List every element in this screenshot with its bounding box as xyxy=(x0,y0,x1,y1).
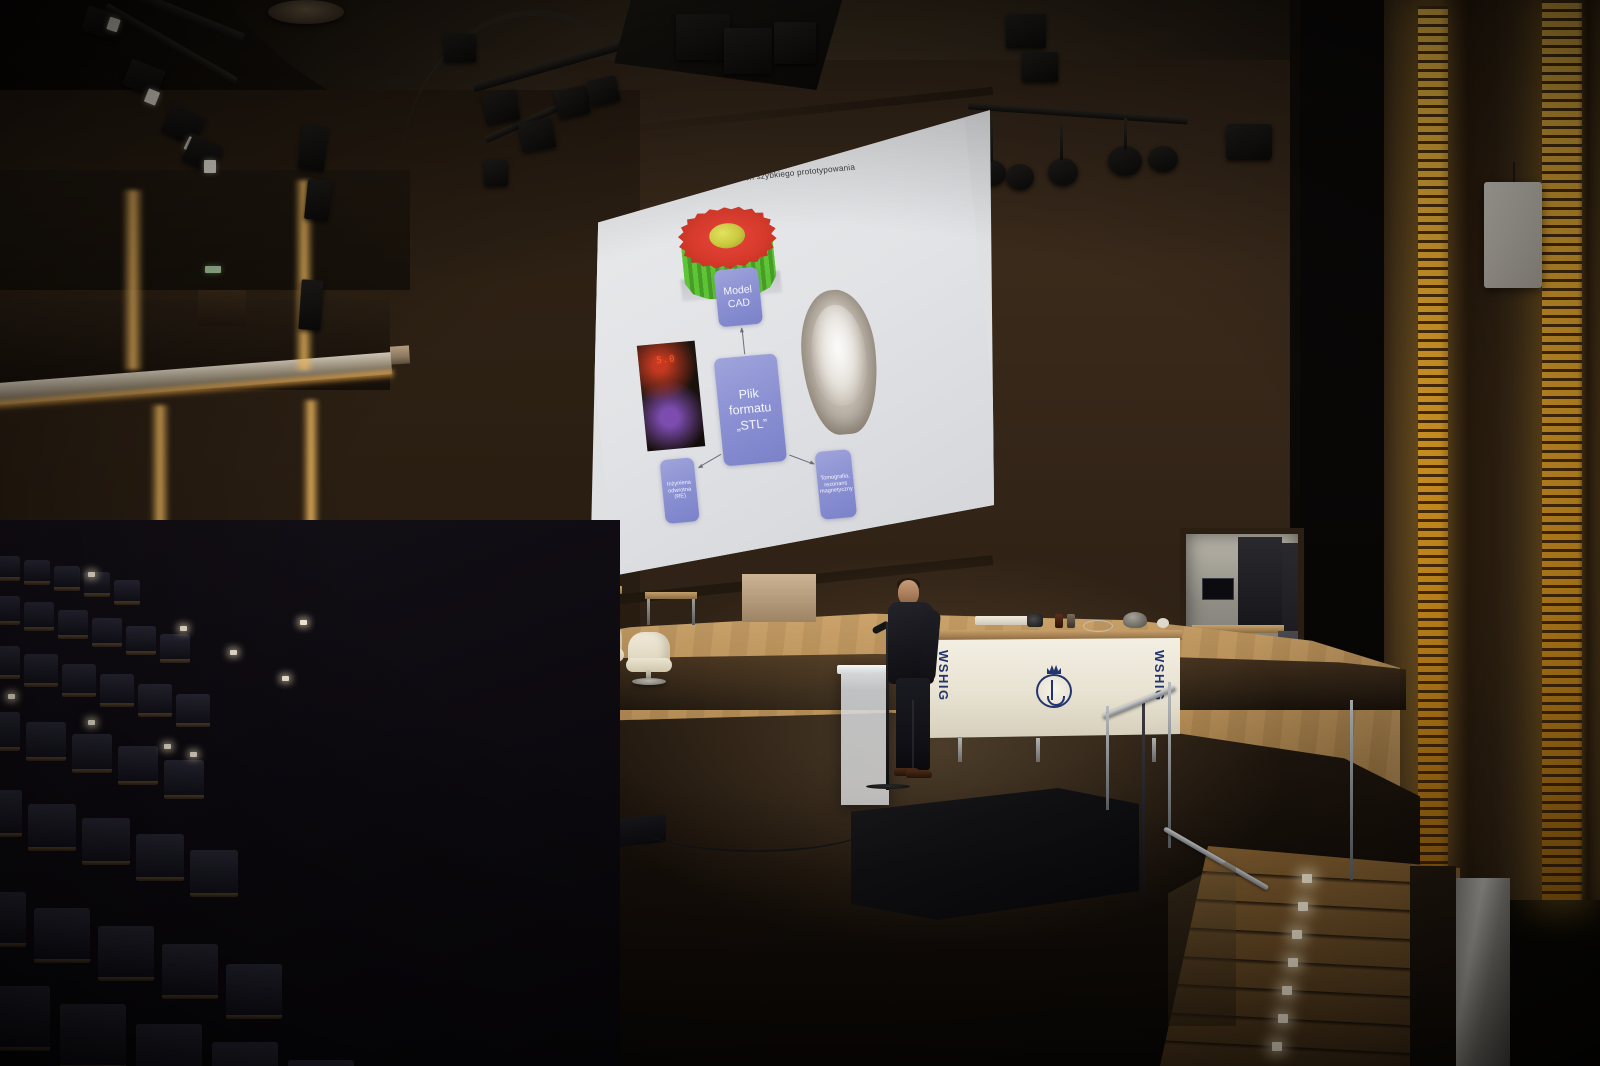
presenter xyxy=(884,580,946,792)
stage-light-10 xyxy=(298,125,328,171)
seat xyxy=(136,1024,202,1066)
auditorium-seating xyxy=(0,520,620,1066)
seat xyxy=(100,674,134,704)
seat xyxy=(24,602,54,628)
aisle-step-light xyxy=(8,694,15,699)
riser-cable-drop xyxy=(1142,700,1145,900)
seat xyxy=(226,964,282,1016)
aisle-step-light xyxy=(190,752,197,757)
presenter-shoe-right xyxy=(906,770,932,778)
stage-light-21 xyxy=(1048,158,1078,186)
bottle-2 xyxy=(1067,614,1075,628)
box-reverse-engineering: Inżynieria odwrotna (RE) xyxy=(659,457,699,524)
stage-light-13 xyxy=(484,160,508,186)
crest-anchor xyxy=(1051,680,1057,700)
ct-skull-scan-image xyxy=(795,287,883,438)
ceiling-speaker-disc xyxy=(268,0,344,24)
arrow-stl-to-re xyxy=(698,454,721,468)
aisle-step-light xyxy=(282,676,289,681)
kettle xyxy=(1123,612,1147,628)
seat xyxy=(92,618,122,644)
stage-light-22 xyxy=(1108,146,1142,176)
box-tomography: Tomografia, rezonans magnetyczny xyxy=(814,449,857,520)
seat xyxy=(58,610,88,636)
seat xyxy=(0,596,20,622)
aisle-step-light xyxy=(300,620,307,625)
rolled-banner-end-cap xyxy=(1027,614,1043,627)
stage-light-23 xyxy=(1148,146,1178,172)
armchair-right-base xyxy=(632,678,666,685)
seat xyxy=(138,684,172,714)
box-stl-file: Plik formatu „STL” xyxy=(714,353,788,466)
seat xyxy=(0,892,26,944)
slat-panel-right xyxy=(1542,0,1582,900)
stair-metal-panel xyxy=(1452,878,1510,1066)
wshig-crest-icon xyxy=(1036,664,1072,708)
seat xyxy=(0,790,22,834)
seat xyxy=(98,926,154,978)
stair-step-light xyxy=(1272,1042,1282,1051)
handrail-post-2 xyxy=(1168,682,1171,848)
presentation-slide: Pozyskiwanie danych w procesach szybkieg… xyxy=(572,119,1010,604)
rolled-banner xyxy=(975,616,1035,625)
arrow-stl-to-model xyxy=(742,328,746,354)
wall-accent-glow-1 xyxy=(122,190,144,370)
seat xyxy=(24,560,50,582)
arrow-stl-to-tomo xyxy=(789,455,814,465)
light-bar-drop-3 xyxy=(1124,118,1127,150)
stair-step-light xyxy=(1298,902,1308,911)
seat xyxy=(62,664,96,694)
aisle-step-light xyxy=(88,720,95,725)
stair-step-light xyxy=(1282,986,1292,995)
printer-photo-thumbnail: 5.0 xyxy=(637,341,705,452)
handrail-post-3 xyxy=(1350,700,1353,880)
slide-title: Pozyskiwanie danych w procesach szybkieg… xyxy=(621,163,855,195)
seat xyxy=(176,694,210,724)
aisle-step-light xyxy=(230,650,237,655)
seat xyxy=(34,908,90,960)
seat xyxy=(126,626,156,652)
aisle-step-light xyxy=(164,744,171,749)
head-table-leg-2 xyxy=(1036,738,1040,762)
stage-table-small xyxy=(645,592,697,599)
seat xyxy=(0,712,20,748)
seat xyxy=(24,654,58,684)
stair-step-light xyxy=(1292,930,1302,939)
stair-step-light xyxy=(1302,874,1312,883)
seat xyxy=(0,646,20,676)
small-white-object xyxy=(1157,618,1169,628)
seat xyxy=(60,1004,126,1066)
stage-light-16 xyxy=(774,22,816,64)
crest-crown xyxy=(1047,664,1061,674)
stage-cable-3 xyxy=(640,800,870,852)
seat xyxy=(118,746,158,782)
head-table-leg-1 xyxy=(958,738,962,762)
seat xyxy=(72,734,112,770)
auditorium-scene: Pozyskiwanie danych w procesach szybkieg… xyxy=(0,0,1600,1066)
printer-led-readout: 5.0 xyxy=(656,354,676,366)
projection-screen: Pozyskiwanie danych w procesach szybkieg… xyxy=(588,110,994,610)
seat xyxy=(212,1042,278,1066)
stage-light-6 xyxy=(482,89,521,124)
ceiling-mount-right xyxy=(1226,124,1272,160)
bottle-1 xyxy=(1055,614,1063,628)
seat xyxy=(26,722,66,758)
aisle-step-light xyxy=(88,572,95,577)
stage-light-5 xyxy=(444,34,476,62)
seat xyxy=(0,986,50,1048)
cable-coil xyxy=(1083,620,1113,632)
stair-step-light xyxy=(1288,958,1298,967)
stage-light-4-lens xyxy=(204,160,216,173)
presenter-leg-gap xyxy=(912,700,914,768)
seat xyxy=(28,804,76,848)
stage-light-14 xyxy=(676,14,730,60)
armchair-right xyxy=(624,632,674,686)
stair-step-light xyxy=(1278,1014,1288,1023)
exit-sign xyxy=(205,266,221,273)
aisle-step-light xyxy=(180,626,187,631)
wall-mounted-antenna-box xyxy=(1484,182,1542,288)
seat xyxy=(54,566,80,588)
table-items xyxy=(975,612,1175,634)
light-bar-drop-2 xyxy=(1060,120,1063,160)
balcony-door xyxy=(198,290,246,326)
stage-light-20 xyxy=(1006,164,1034,190)
handrail-post-1 xyxy=(1106,706,1109,810)
stage-light-7 xyxy=(518,117,557,152)
stage-light-12 xyxy=(298,279,323,330)
slat-edge-shadow xyxy=(1578,0,1600,900)
seat xyxy=(0,556,20,578)
stair-dark-column xyxy=(1410,866,1456,1066)
stage-light-17 xyxy=(1006,14,1046,48)
stage-light-18 xyxy=(1022,52,1058,82)
seat xyxy=(160,634,190,660)
slide-caption: Rys. 1. Pozyskiwanie danych CT (Stereoli… xyxy=(704,552,833,572)
seat xyxy=(190,850,238,894)
seat xyxy=(164,760,204,796)
stage-back-riser xyxy=(742,574,816,622)
stage-light-15 xyxy=(724,28,772,74)
seat xyxy=(162,944,218,996)
seat xyxy=(82,818,130,862)
seat xyxy=(288,1060,354,1066)
head-table-leg-3 xyxy=(1152,738,1156,762)
box-model-cad: Model CAD xyxy=(714,267,764,328)
seat xyxy=(136,834,184,878)
seat xyxy=(114,580,140,602)
stage-light-11 xyxy=(304,179,332,221)
slat-shadow-band xyxy=(1440,0,1504,880)
